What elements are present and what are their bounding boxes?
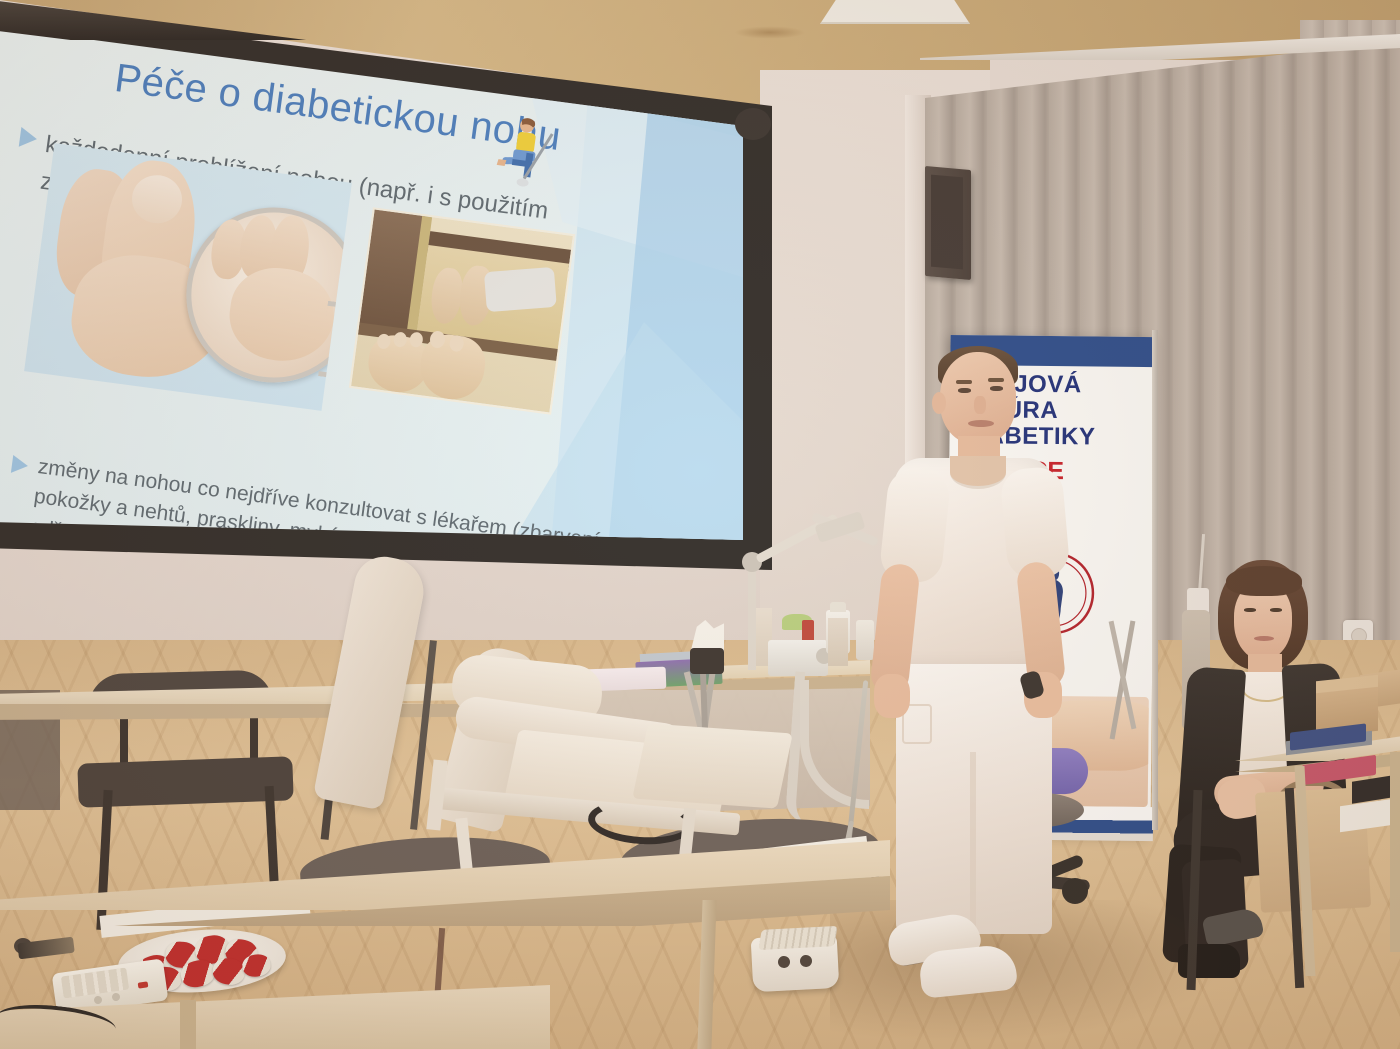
eye <box>990 386 1003 391</box>
ceiling-light-panel <box>820 0 970 24</box>
speaker-grille-icon <box>931 175 963 270</box>
mouth <box>1254 636 1274 641</box>
slide-image-feet-mirror <box>349 207 575 414</box>
side-table-leg <box>1390 752 1400 952</box>
mouth <box>968 420 994 427</box>
ear <box>932 392 946 414</box>
eyebrow <box>988 378 1004 382</box>
nose <box>974 396 986 414</box>
lecture-room-photo: Péče o diabetickou nohu každodenní prohl… <box>0 0 1400 1049</box>
screen-roller-cap <box>735 108 771 140</box>
presenter <box>862 352 1072 1012</box>
bullet-triangle-icon-2 <box>11 455 29 475</box>
person-with-cane-clipart-icon <box>488 113 568 202</box>
product-box-small <box>828 618 848 666</box>
eyebrow <box>956 380 972 384</box>
red-bottle <box>802 620 814 642</box>
step-stool-top <box>758 926 837 950</box>
shirt-collar <box>950 456 1006 489</box>
trouser-seam <box>970 752 976 936</box>
eye <box>958 388 971 393</box>
slide-image-foot-mirror <box>24 143 352 411</box>
hand-left <box>874 674 910 718</box>
eye <box>1244 608 1256 612</box>
bullet-triangle-icon <box>19 127 38 149</box>
treatment-chair-legrest <box>632 723 793 808</box>
bottle-cap <box>830 602 846 612</box>
hair-bangs <box>1226 566 1302 596</box>
foreground-table-leg-2 <box>180 1000 196 1049</box>
eye <box>1270 608 1282 612</box>
lamp-pole <box>748 560 756 670</box>
banner-pole <box>1152 330 1158 830</box>
tripod-head <box>690 648 724 674</box>
